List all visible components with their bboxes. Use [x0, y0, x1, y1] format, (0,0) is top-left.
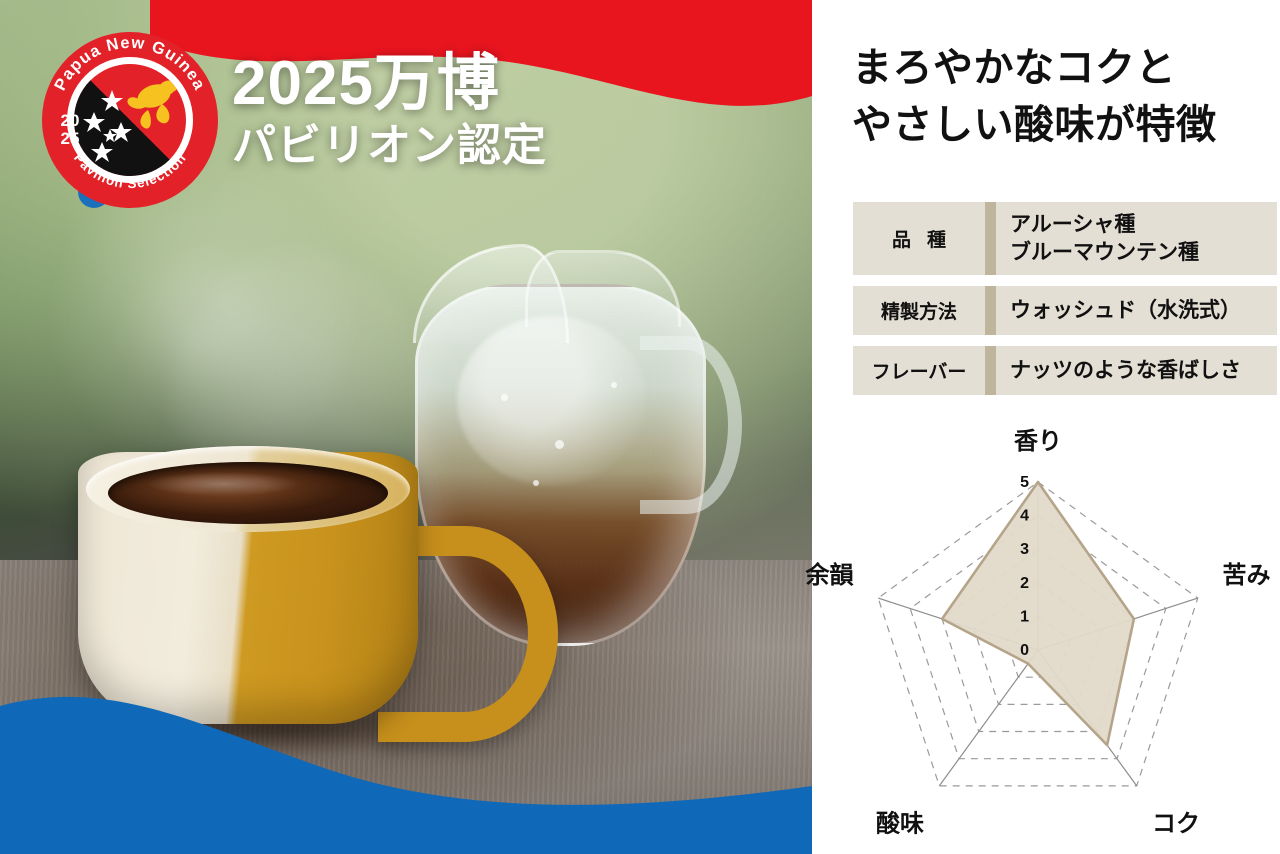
radar-axis-label-body: コク	[1152, 803, 1200, 838]
spec-value-flavor: ナッツのような香ばしさ	[996, 346, 1277, 395]
emblem-year-top: 20	[61, 111, 80, 130]
condensation-droplet	[533, 480, 539, 486]
spec-label-process: 精製方法	[853, 286, 985, 335]
condensation-droplet	[555, 440, 564, 449]
flavor-radar-chart: 012345 香り 苦み コク 酸味 余韻	[822, 424, 1280, 824]
headline-line-2: やさしい酸味が特徴	[852, 97, 1280, 154]
pavilion-subtitle: パビリオン認定	[232, 122, 652, 170]
radar-axis-label-aroma: 香り	[1014, 421, 1062, 456]
spec-label-variety: 品種	[853, 202, 985, 275]
radar-axis-label-acidity: 酸味	[876, 803, 924, 838]
spec-divider	[985, 346, 996, 395]
radar-tick-2: 2	[1020, 575, 1029, 592]
emblem-year-bottom: 25	[61, 129, 80, 148]
spec-row-process: 精製方法 ウォッシュド（水洗式）	[853, 286, 1277, 335]
product-photo-panel: Papua New Guinea Pavilion Selection 20 2…	[0, 0, 812, 854]
variety-line-1: アルーシャ種	[1010, 211, 1199, 239]
radar-axis-label-bitterness: 苦み	[1223, 555, 1271, 590]
headline-line-1: まろやかなコクと	[852, 40, 1280, 97]
variety-line-2: ブルーマウンテン種	[1010, 239, 1199, 267]
condensation-droplet	[611, 382, 617, 388]
condensation-droplet	[501, 394, 508, 401]
papua-new-guinea-pavilion-selection-emblem: Papua New Guinea Pavilion Selection 20 2…	[36, 26, 224, 214]
radar-axis-label-aftertaste: 余韻	[805, 555, 853, 590]
coffee-highlight	[148, 472, 298, 496]
spec-value-process: ウォッシュド（水洗式）	[996, 286, 1277, 335]
info-panel: まろやかなコクと やさしい酸味が特徴 品種 アルーシャ種 ブルーマウンテン種 精…	[812, 0, 1280, 854]
blue-wave-decoration	[0, 664, 812, 854]
spec-divider	[985, 286, 996, 335]
radar-tick-3: 3	[1020, 541, 1029, 558]
spec-row-flavor: フレーバー ナッツのような香ばしさ	[853, 346, 1277, 395]
spec-table: 品種 アルーシャ種 ブルーマウンテン種 精製方法 ウォッシュド（水洗式） フレー…	[853, 202, 1277, 406]
expo-title: 2025万博	[232, 52, 652, 116]
spec-row-variety: 品種 アルーシャ種 ブルーマウンテン種	[853, 202, 1277, 275]
headline: まろやかなコクと やさしい酸味が特徴	[852, 40, 1280, 154]
radar-tick-0: 0	[1020, 642, 1029, 659]
spec-value-variety: アルーシャ種 ブルーマウンテン種	[996, 202, 1277, 275]
radar-svg: 012345	[822, 424, 1280, 824]
radar-tick-4: 4	[1020, 508, 1029, 525]
title-block: 2025万博 パビリオン認定	[232, 52, 652, 171]
radar-tick-5: 5	[1020, 474, 1029, 491]
promo-page: Papua New Guinea Pavilion Selection 20 2…	[0, 0, 1280, 854]
radar-tick-1: 1	[1020, 608, 1029, 625]
spec-divider	[985, 202, 996, 275]
spec-label-flavor: フレーバー	[853, 346, 985, 395]
